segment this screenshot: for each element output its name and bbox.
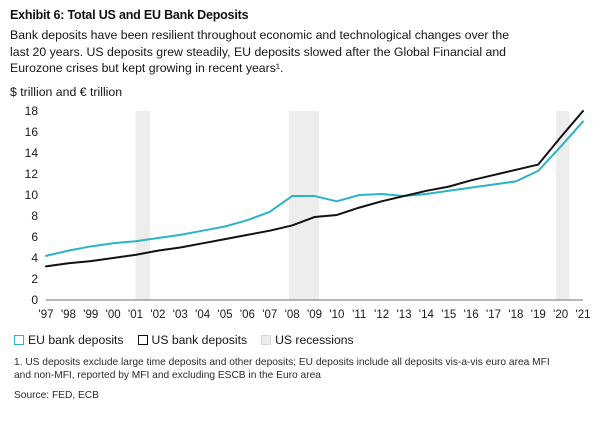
x-axis-tick-label: '12 <box>374 309 389 321</box>
x-axis-tick-label: '16 <box>464 309 479 321</box>
exhibit-panel: Exhibit 6: Total US and EU Bank Deposits… <box>0 0 600 427</box>
x-axis-tick-label: '20 <box>553 309 568 321</box>
y-axis-tick-label: 8 <box>31 209 38 223</box>
x-axis-tick-label: '03 <box>173 309 188 321</box>
recession-band <box>136 111 151 300</box>
eu-deposits-swatch-icon <box>14 335 24 345</box>
x-axis-tick-label: '05 <box>218 309 233 321</box>
recession-swatch-icon <box>261 335 271 345</box>
x-axis-tick-label: '19 <box>531 309 546 321</box>
chart-svg: 024681012141618'97'98'99'00'01'02'03'04'… <box>8 101 590 329</box>
x-axis-tick-label: '21 <box>576 309 591 321</box>
y-axis-tick-label: 6 <box>31 230 38 244</box>
x-axis-tick-label: '99 <box>83 309 98 321</box>
y-axis-tick-label: 18 <box>25 104 39 118</box>
y-axis-tick-label: 10 <box>25 188 39 202</box>
y-axis-tick-label: 14 <box>25 146 39 160</box>
legend-label-eu: EU bank deposits <box>28 333 124 347</box>
x-axis-tick-label: '15 <box>441 309 456 321</box>
x-axis-tick-label: '11 <box>352 309 366 321</box>
recession-band <box>289 111 319 300</box>
axis-units-label: $ trillion and € trillion <box>10 85 590 99</box>
footnote-1: 1. US deposits exclude large time deposi… <box>14 356 559 383</box>
chart-legend: EU bank deposits US bank deposits US rec… <box>14 333 590 347</box>
footnotes: 1. US deposits exclude large time deposi… <box>14 356 590 403</box>
x-axis-tick-label: '01 <box>128 309 143 321</box>
legend-label-recessions: US recessions <box>275 333 354 347</box>
x-axis-tick-label: '04 <box>195 309 211 321</box>
y-axis-tick-label: 16 <box>25 125 39 139</box>
x-axis-tick-label: '14 <box>419 309 435 321</box>
legend-label-us: US bank deposits <box>152 333 248 347</box>
x-axis-tick-label: '13 <box>397 309 412 321</box>
x-axis-tick-label: '97 <box>39 309 54 321</box>
x-axis-tick-label: '18 <box>508 309 523 321</box>
x-axis-tick-label: '02 <box>150 309 165 321</box>
y-axis-tick-label: 4 <box>31 251 38 265</box>
x-axis-tick-label: '07 <box>262 309 277 321</box>
x-axis-tick-label: '17 <box>486 309 501 321</box>
legend-item-us-recessions[interactable]: US recessions <box>261 333 354 347</box>
legend-item-eu-bank-deposits[interactable]: EU bank deposits <box>14 333 124 347</box>
y-axis-tick-label: 0 <box>31 293 38 307</box>
x-axis-tick-label: '08 <box>285 309 300 321</box>
y-axis-tick-label: 12 <box>25 167 39 181</box>
legend-item-us-bank-deposits[interactable]: US bank deposits <box>138 333 248 347</box>
exhibit-subtitle: Bank deposits have been resilient throug… <box>10 27 530 77</box>
y-axis-tick-label: 2 <box>31 272 38 286</box>
x-axis-tick-label: '00 <box>106 309 121 321</box>
line-chart: 024681012141618'97'98'99'00'01'02'03'04'… <box>8 101 590 329</box>
x-axis-tick-label: '98 <box>61 309 76 321</box>
source-line: Source: FED, ECB <box>14 389 590 403</box>
x-axis-tick-label: '10 <box>329 309 344 321</box>
page-title: Exhibit 6: Total US and EU Bank Deposits <box>10 8 590 22</box>
x-axis-tick-label: '06 <box>240 309 255 321</box>
x-axis-tick-label: '09 <box>307 309 322 321</box>
us-deposits-swatch-icon <box>138 335 148 345</box>
